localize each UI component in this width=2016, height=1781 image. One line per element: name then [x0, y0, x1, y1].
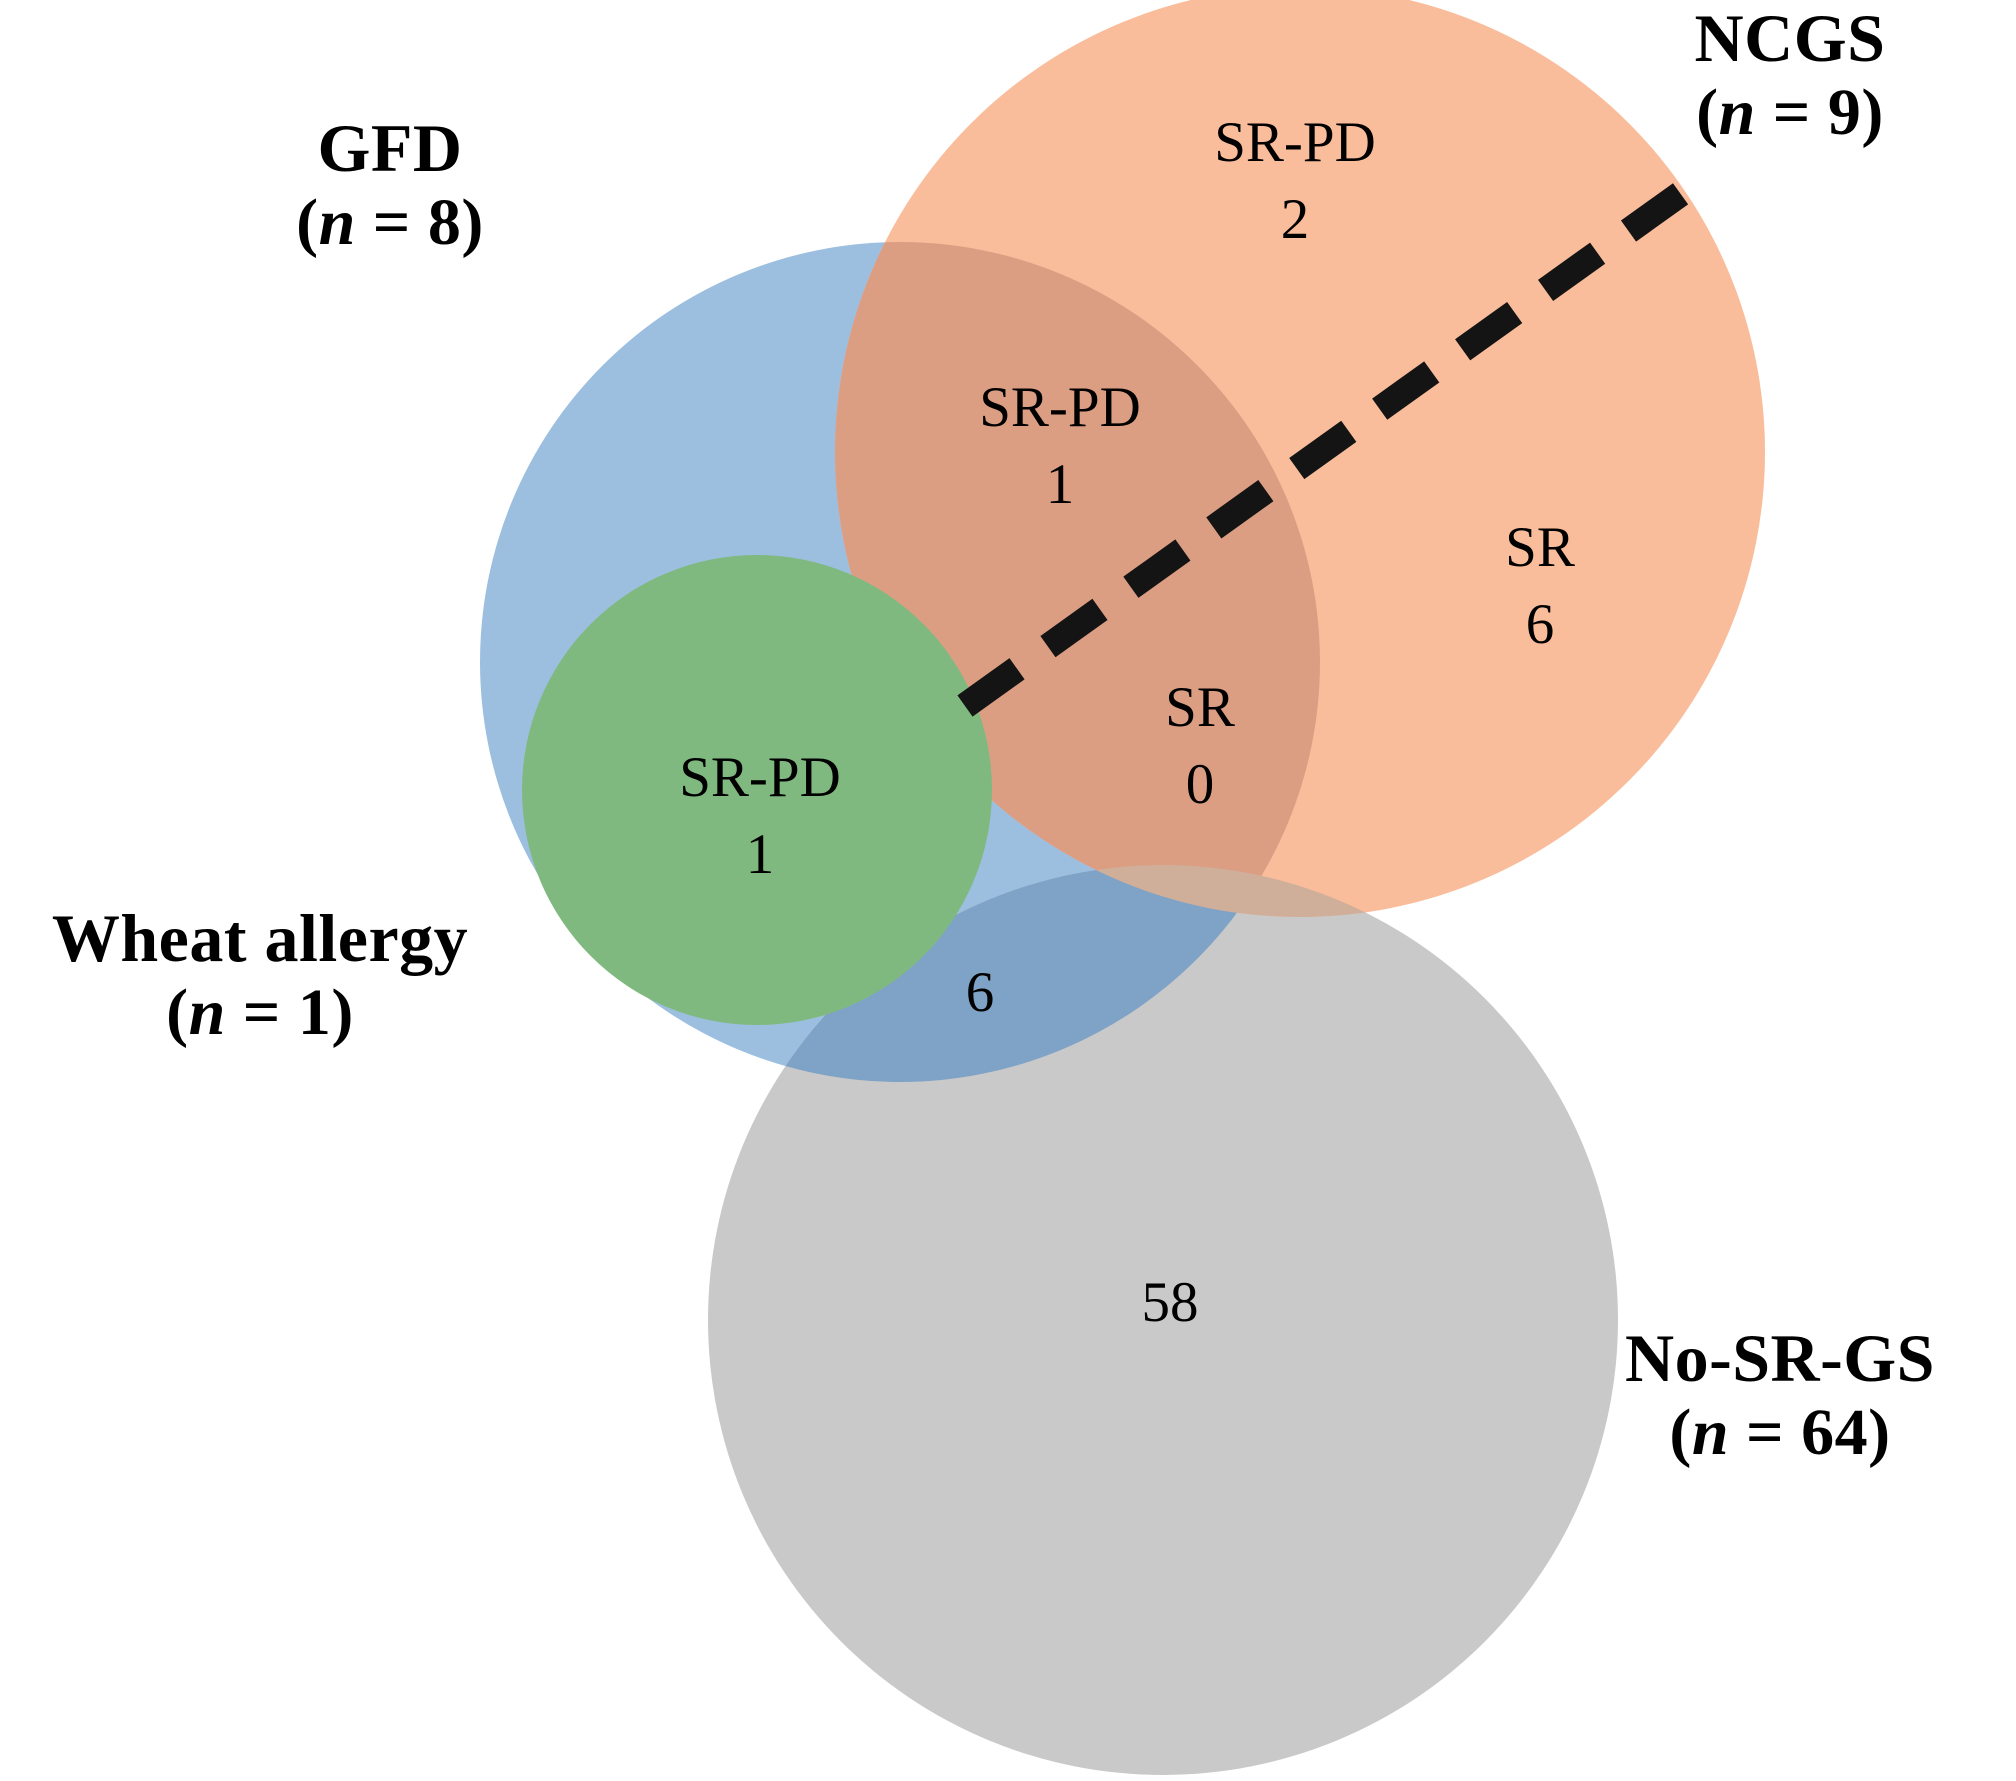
region-count-wheat-allergy: 1 [610, 817, 910, 894]
set-label-gfd-name: GFD [317, 110, 462, 186]
region-label-ncgs-only-text: SR-PD [1214, 111, 1376, 174]
venn-diagram-figure: GFD (n = 8) NCGS (n = 9) Wheat allergy (… [0, 0, 2016, 1781]
region-label-gfd-ncgs-sr-text: SR [1165, 676, 1235, 739]
set-label-wheat-allergy-n: (n = 1) [0, 976, 520, 1050]
set-label-wheat-allergy: Wheat allergy (n = 1) [0, 900, 520, 1050]
region-count-gfd-ncgs-sr: 0 [1080, 747, 1320, 824]
region-count-no-sr-gs-only: 58 [1080, 1270, 1260, 1335]
region-label-gfd-ncgs-srpd: SR-PD 1 [920, 370, 1200, 524]
region-count-ncgs-sr: 6 [1420, 587, 1660, 664]
set-label-no-sr-gs-name: No-SR-GS [1625, 1320, 1935, 1396]
region-count-ncgs-only: 2 [1155, 182, 1435, 259]
region-label-gfd-ncgs-srpd-text: SR-PD [979, 376, 1141, 439]
set-label-ncgs-name: NCGS [1695, 0, 1886, 76]
region-label-ncgs-sr: SR 6 [1420, 510, 1660, 664]
set-label-wheat-allergy-name: Wheat allergy [52, 900, 468, 976]
region-count-gfd-no-sr-gs: 6 [900, 960, 1060, 1025]
region-count-gfd-ncgs-srpd: 1 [920, 447, 1200, 524]
set-label-no-sr-gs-n: (n = 64) [1560, 1396, 2000, 1470]
set-label-ncgs: NCGS (n = 9) [1580, 0, 2000, 150]
region-label-wheat-allergy: SR-PD 1 [610, 740, 910, 894]
region-label-wheat-allergy-text: SR-PD [679, 746, 841, 809]
region-label-ncgs-only: SR-PD 2 [1155, 105, 1435, 259]
region-label-ncgs-sr-text: SR [1505, 516, 1575, 579]
set-label-gfd: GFD (n = 8) [180, 110, 600, 260]
set-label-no-sr-gs: No-SR-GS (n = 64) [1560, 1320, 2000, 1470]
set-label-ncgs-n: (n = 9) [1580, 76, 2000, 150]
venn-circles-svg [0, 0, 2016, 1781]
set-label-gfd-n: (n = 8) [180, 186, 600, 260]
region-label-gfd-ncgs-sr: SR 0 [1080, 670, 1320, 824]
